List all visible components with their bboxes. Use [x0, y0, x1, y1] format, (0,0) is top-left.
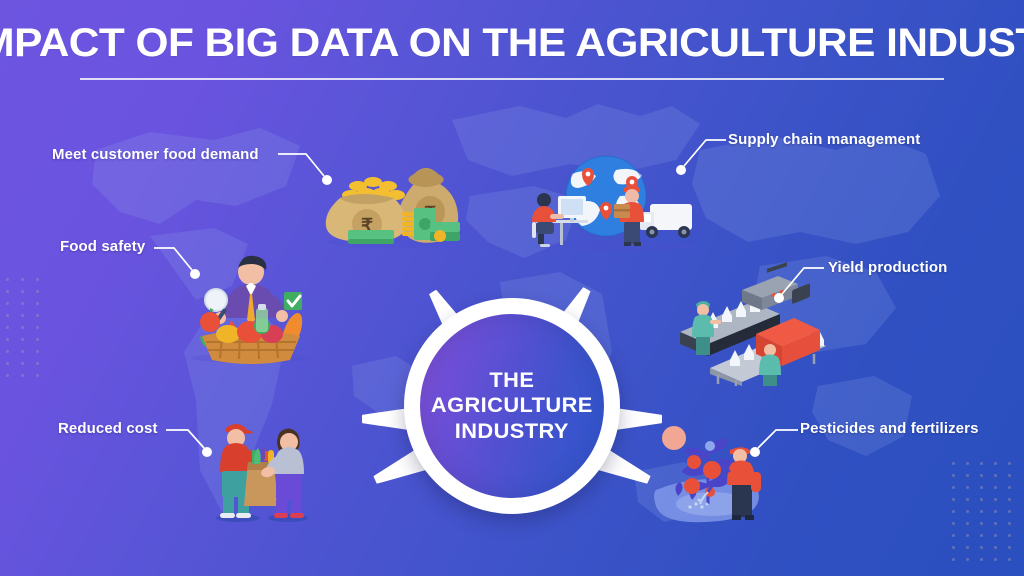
hub-inner-circle: THE AGRICULTURE INDUSTRY [420, 314, 604, 498]
label-supply-chain-management[interactable]: Supply chain management [728, 131, 920, 148]
supply-chain-illustration [528, 152, 708, 252]
label-reduced-cost[interactable]: Reduced cost [58, 420, 158, 437]
page-title: IMPACT OF BIG DATA ON THE AGRICULTURE IN… [0, 22, 1024, 64]
label-meet-customer-food-demand[interactable]: Meet customer food demand [52, 146, 259, 163]
grocery-delivery-illustration [206, 412, 316, 524]
label-food-safety[interactable]: Food safety [60, 238, 145, 255]
hub-label-line3: INDUSTRY [455, 420, 569, 443]
money-bags-illustration: ₹ ₹ [318, 150, 468, 250]
infographic-canvas: IMPACT OF BIG DATA ON THE AGRICULTURE IN… [0, 0, 1024, 576]
title-underline [80, 78, 944, 80]
dot-grid-left [6, 278, 56, 386]
hub-label: THE AGRICULTURE INDUSTRY [431, 368, 593, 445]
factory-conveyor-illustration [674, 276, 834, 386]
label-pesticides-and-fertilizers[interactable]: Pesticides and fertilizers [800, 420, 979, 437]
label-yield-production[interactable]: Yield production [828, 259, 947, 276]
title-block: IMPACT OF BIG DATA ON THE AGRICULTURE IN… [0, 22, 1024, 64]
hub-label-line2: AGRICULTURE [431, 394, 593, 417]
hub-label-line1: THE [490, 369, 535, 392]
food-inspection-illustration [176, 244, 326, 364]
dot-grid-right [952, 462, 1018, 570]
crop-spraying-illustration [652, 416, 782, 526]
